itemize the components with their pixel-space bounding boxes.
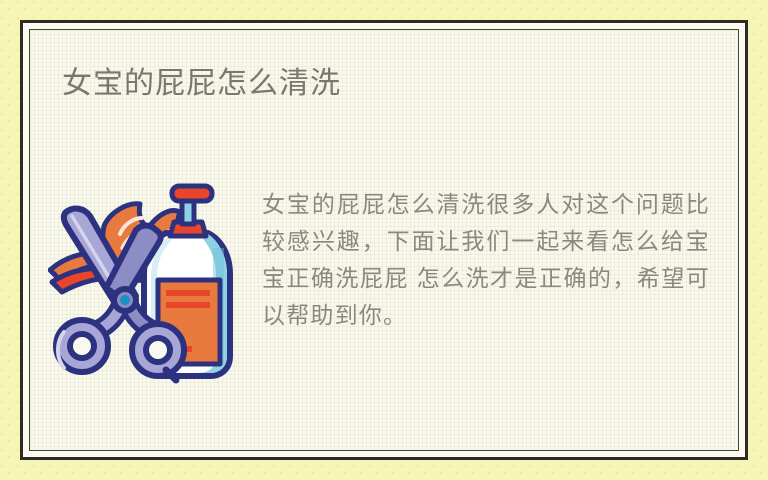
article-body-text: 女宝的屁屁怎么清洗很多人对这个问题比较感兴趣，下面让我们一起来看怎么给宝宝正确洗… (262, 178, 710, 334)
scissors-hair-shampoo-bottle-illustration (48, 178, 248, 388)
content-row: 女宝的屁屁怎么清洗很多人对这个问题比较感兴趣，下面让我们一起来看怎么给宝宝正确洗… (30, 178, 738, 388)
page-title: 女宝的屁屁怎么清洗 (62, 66, 341, 102)
page-background: 女宝的屁屁怎么清洗 (0, 0, 768, 480)
inner-frame: 女宝的屁屁怎么清洗 (29, 29, 739, 451)
outer-frame: 女宝的屁屁怎么清洗 (20, 20, 748, 460)
